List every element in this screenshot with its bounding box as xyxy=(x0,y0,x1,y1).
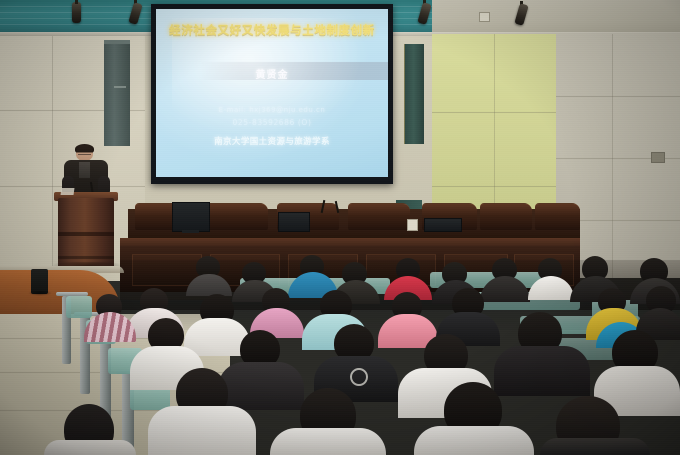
monitor-stand xyxy=(182,230,199,233)
pillar-slot xyxy=(114,86,126,88)
podium-trim xyxy=(58,256,114,259)
spotlight-icon xyxy=(517,4,527,25)
desk-monitor xyxy=(172,202,210,232)
audience-shoulders xyxy=(44,440,136,455)
spotlight-icon xyxy=(420,3,430,24)
podium-trim xyxy=(58,232,114,236)
slide-affiliation: 南京大学国土资源与旅游学系 xyxy=(158,135,386,147)
ceiling-right-panel xyxy=(432,0,680,34)
wall-pillar-right xyxy=(404,44,424,144)
glasses-icon xyxy=(78,154,91,158)
desk-monitor xyxy=(278,212,310,232)
audience-shoulders xyxy=(218,362,304,410)
wall-vent-icon xyxy=(651,152,665,163)
audience-shoulders xyxy=(270,428,386,455)
stage-chair xyxy=(480,203,532,230)
desk-equipment xyxy=(424,218,462,232)
jacket-logo-icon xyxy=(350,368,368,386)
slide-contact-phone: 025-83592686 (O) xyxy=(158,118,386,127)
wall-pillar-left xyxy=(104,40,130,146)
audience-shoulders xyxy=(540,438,650,455)
slide-title: 经济社会又好又快发展与土地制度创新 xyxy=(158,22,386,38)
slide-author-name: 黄贤金 xyxy=(158,66,386,81)
ceiling-access-panel xyxy=(479,12,490,22)
seat-back xyxy=(66,296,92,318)
pillar-cap xyxy=(104,40,130,44)
audience-shoulders xyxy=(148,406,256,455)
lecture-hall-photo: 经济社会又好又快发展与土地制度创新 黄贤金 E-mail: hxj369@nju… xyxy=(0,0,680,455)
audience-shoulders xyxy=(414,426,534,455)
loudspeaker-shadow xyxy=(28,291,52,296)
spotlight-icon xyxy=(72,2,82,23)
desk-paper-box xyxy=(407,219,418,231)
stage-chair xyxy=(535,203,580,230)
speaker-shirt xyxy=(79,162,90,178)
podium-notes xyxy=(61,188,75,195)
slide-contact-email: E-mail: hxj369@nju.edu.cn xyxy=(158,106,386,114)
spotlight-icon xyxy=(131,3,141,24)
stage-chair xyxy=(206,203,268,230)
stage-chair xyxy=(348,203,410,230)
audience-shoulders xyxy=(494,346,590,396)
